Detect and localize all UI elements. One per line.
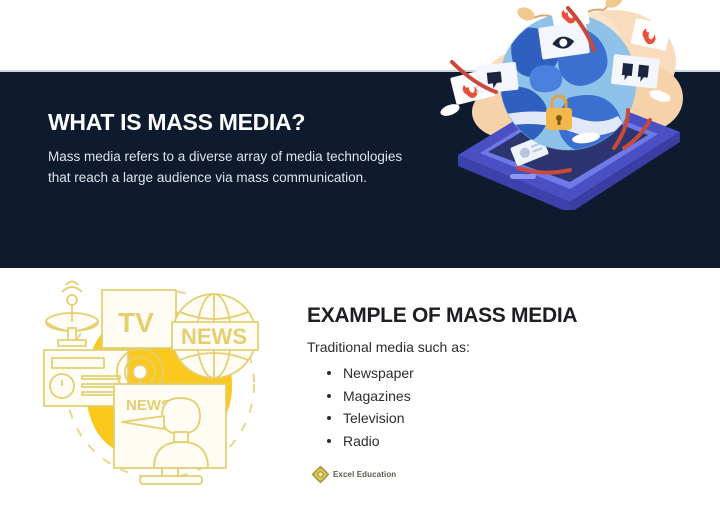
message-card-flame-right: [631, 18, 672, 51]
infographic-page: WHAT IS MASS MEDIA? Mass media refers to…: [0, 0, 720, 510]
hero-body-text: Mass media refers to a diverse array of …: [48, 147, 408, 189]
hero-text-block: WHAT IS MASS MEDIA? Mass media refers to…: [48, 110, 408, 189]
example-lead-text: Traditional media such as:: [307, 337, 707, 358]
satellite-dish: [46, 282, 98, 347]
message-card-eye: [538, 21, 590, 59]
list-item: Television: [327, 407, 707, 430]
list-item: Newspaper: [327, 362, 707, 385]
news-globe-label: NEWS: [181, 324, 247, 349]
example-title: EXAMPLE OF MASS MEDIA: [307, 304, 707, 327]
list-item: Magazines: [327, 385, 707, 408]
brand-logo: Excel Education: [312, 466, 396, 483]
hero-top-divider: [0, 70, 720, 72]
cloud-stems: [534, 3, 610, 32]
brand-name: Excel Education: [333, 470, 396, 479]
hero-title: WHAT IS MASS MEDIA?: [48, 110, 408, 135]
traditional-media-illustration: TV: [30, 276, 290, 491]
message-card-flame-top: [550, 0, 590, 30]
news-anchor-tv: NEWS: [114, 384, 226, 484]
tv-label: TV: [118, 307, 154, 338]
list-item: Radio: [327, 430, 707, 453]
diamond-logo-icon: [312, 466, 329, 483]
news-globe: NEWS: [172, 294, 258, 378]
example-media-list: Newspaper Magazines Television Radio: [307, 362, 707, 453]
hero-panel: WHAT IS MASS MEDIA? Mass media refers to…: [0, 72, 720, 268]
example-text-block: EXAMPLE OF MASS MEDIA Traditional media …: [307, 304, 707, 453]
